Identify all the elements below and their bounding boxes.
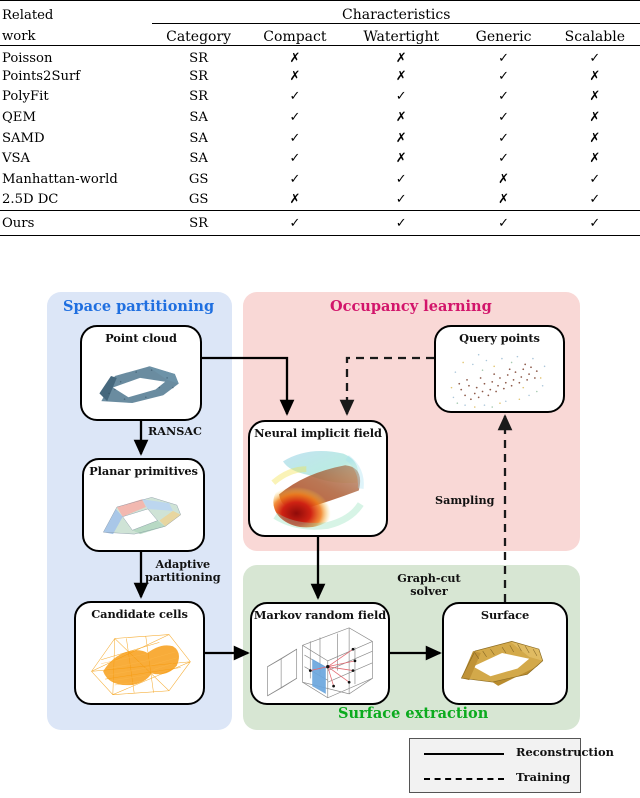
cell-watertight: ✗ bbox=[345, 107, 457, 128]
markov-random-field-thumbnail bbox=[252, 622, 388, 705]
table-row: QEM SA ✓ ✗ ✓ ✗ bbox=[0, 107, 640, 128]
table-corner-label-line2: work bbox=[0, 24, 152, 46]
table-header-row: work Category Compact Watertight Generic… bbox=[0, 24, 640, 46]
cell-work: QEM bbox=[0, 107, 152, 128]
edge-label-ransac: RANSAC bbox=[148, 425, 202, 438]
cell-watertight: ✗ bbox=[345, 66, 457, 87]
cell-scalable: ✗ bbox=[550, 66, 640, 87]
table-group-header: Characteristics bbox=[152, 1, 640, 24]
node-label-candidate-cells: Candidate cells bbox=[76, 607, 203, 621]
cell-generic: ✓ bbox=[457, 46, 549, 67]
table-row-ours: Ours SR ✓ ✓ ✓ ✓ bbox=[0, 210, 640, 235]
query-points-thumbnail bbox=[436, 345, 563, 413]
cell-scalable: ✗ bbox=[550, 128, 640, 149]
table-row: Points2Surf SR ✗ ✗ ✓ ✗ bbox=[0, 66, 640, 87]
node-neural-implicit-field[interactable]: Neural implicit field bbox=[248, 420, 388, 537]
cell-work: Ours bbox=[0, 210, 152, 235]
neural-implicit-field-thumbnail bbox=[250, 440, 386, 536]
cell-watertight: ✗ bbox=[345, 128, 457, 149]
cell-generic: ✓ bbox=[457, 107, 549, 128]
node-label-markov-random-field: Markov random field bbox=[252, 608, 388, 622]
cell-compact: ✓ bbox=[245, 107, 345, 128]
cell-generic: ✓ bbox=[457, 128, 549, 149]
panel-title-occupancy-learning: Occupancy learning bbox=[330, 298, 492, 315]
legend-row-reconstruction: Reconstruction bbox=[410, 741, 580, 767]
planar-primitives-thumbnail bbox=[84, 478, 203, 552]
node-point-cloud[interactable]: Point cloud bbox=[80, 325, 202, 421]
cell-category: SA bbox=[152, 148, 244, 169]
cell-scalable: ✗ bbox=[550, 87, 640, 108]
node-markov-random-field[interactable]: Markov random field bbox=[250, 602, 390, 705]
node-label-neural-implicit-field: Neural implicit field bbox=[250, 426, 386, 440]
col-header-scalable: Scalable bbox=[550, 24, 640, 46]
node-surface[interactable]: Surface bbox=[442, 602, 568, 705]
legend-box: Reconstruction Training bbox=[409, 738, 581, 793]
table-row: SAMD SA ✓ ✗ ✓ ✗ bbox=[0, 128, 640, 149]
col-header-compact: Compact bbox=[245, 24, 345, 46]
panel-title-surface-extraction: Surface extraction bbox=[338, 705, 488, 722]
edge-label-graphcut-line1: Graph-cut bbox=[390, 572, 468, 585]
edge-label-adaptive-line2: partitioning bbox=[145, 571, 221, 584]
edge-label-sampling: Sampling bbox=[435, 494, 494, 507]
legend-label-training: Training bbox=[516, 770, 570, 784]
pipeline-diagram: Space partitioning Occupancy learning Su… bbox=[0, 268, 640, 798]
cell-watertight: ✓ bbox=[345, 169, 457, 190]
related-work-table: Related Characteristics work Category Co… bbox=[0, 0, 640, 236]
legend-label-reconstruction: Reconstruction bbox=[516, 745, 614, 759]
cell-scalable: ✗ bbox=[550, 107, 640, 128]
node-label-surface: Surface bbox=[444, 608, 566, 622]
cell-scalable: ✓ bbox=[550, 169, 640, 190]
node-planar-primitives[interactable]: Planar primitives bbox=[82, 458, 205, 552]
cell-category: SA bbox=[152, 107, 244, 128]
table-row: VSA SA ✓ ✗ ✓ ✗ bbox=[0, 148, 640, 169]
table-corner-label-line1: Related bbox=[0, 1, 152, 24]
cell-compact: ✓ bbox=[245, 87, 345, 108]
node-label-planar-primitives: Planar primitives bbox=[84, 464, 203, 478]
table-row: 2.5D DC GS ✗ ✓ ✗ ✓ bbox=[0, 190, 640, 211]
cell-scalable: ✓ bbox=[550, 46, 640, 67]
solid-line-icon bbox=[424, 753, 504, 755]
cell-watertight: ✗ bbox=[345, 148, 457, 169]
cell-compact: ✓ bbox=[245, 169, 345, 190]
cell-compact: ✗ bbox=[245, 66, 345, 87]
cell-compact: ✓ bbox=[245, 148, 345, 169]
candidate-cells-thumbnail bbox=[76, 621, 203, 704]
comparison-table-container: Related Characteristics work Category Co… bbox=[0, 0, 640, 268]
cell-watertight: ✓ bbox=[345, 210, 457, 235]
panel-title-space-partitioning: Space partitioning bbox=[63, 298, 214, 315]
cell-category: SR bbox=[152, 87, 244, 108]
cell-category: SR bbox=[152, 46, 244, 67]
cell-compact: ✗ bbox=[245, 190, 345, 211]
cell-generic: ✗ bbox=[457, 190, 549, 211]
cell-scalable: ✓ bbox=[550, 190, 640, 211]
cell-work: PolyFit bbox=[0, 87, 152, 108]
legend-row-training: Training bbox=[410, 766, 580, 792]
edge-label-adaptive-partitioning: Adaptive partitioning bbox=[145, 558, 221, 583]
cell-generic: ✓ bbox=[457, 148, 549, 169]
cell-watertight: ✗ bbox=[345, 46, 457, 67]
node-query-points[interactable]: Query points bbox=[434, 325, 565, 413]
point-cloud-thumbnail bbox=[82, 345, 200, 420]
col-header-generic: Generic bbox=[457, 24, 549, 46]
cell-scalable: ✓ bbox=[550, 210, 640, 235]
table-row: Poisson SR ✗ ✗ ✓ ✓ bbox=[0, 46, 640, 67]
cell-work: Points2Surf bbox=[0, 66, 152, 87]
cell-category: SA bbox=[152, 128, 244, 149]
cell-compact: ✗ bbox=[245, 46, 345, 67]
node-label-point-cloud: Point cloud bbox=[82, 331, 200, 345]
cell-generic: ✗ bbox=[457, 169, 549, 190]
table-header-group-row: Related Characteristics bbox=[0, 1, 640, 24]
cell-category: SR bbox=[152, 66, 244, 87]
cell-compact: ✓ bbox=[245, 210, 345, 235]
cell-generic: ✓ bbox=[457, 66, 549, 87]
edge-label-adaptive-line1: Adaptive bbox=[145, 558, 221, 571]
surface-thumbnail bbox=[444, 622, 566, 704]
edge-label-graph-cut-solver: Graph-cut solver bbox=[390, 572, 468, 597]
cell-category: SR bbox=[152, 210, 244, 235]
col-header-category: Category bbox=[152, 24, 244, 46]
col-header-watertight: Watertight bbox=[345, 24, 457, 46]
cell-compact: ✓ bbox=[245, 128, 345, 149]
cell-work: SAMD bbox=[0, 128, 152, 149]
cell-watertight: ✓ bbox=[345, 87, 457, 108]
cell-work: 2.5D DC bbox=[0, 190, 152, 211]
cell-work: Poisson bbox=[0, 46, 152, 67]
edge-label-graphcut-line2: solver bbox=[390, 585, 468, 598]
table-row: PolyFit SR ✓ ✓ ✓ ✗ bbox=[0, 87, 640, 108]
cell-work: Manhattan-world bbox=[0, 169, 152, 190]
cell-generic: ✓ bbox=[457, 210, 549, 235]
cell-scalable: ✗ bbox=[550, 148, 640, 169]
node-label-query-points: Query points bbox=[436, 331, 563, 345]
cell-category: GS bbox=[152, 190, 244, 211]
node-candidate-cells[interactable]: Candidate cells bbox=[74, 601, 205, 705]
table-row: Manhattan-world GS ✓ ✓ ✗ ✓ bbox=[0, 169, 640, 190]
cell-category: GS bbox=[152, 169, 244, 190]
cell-watertight: ✓ bbox=[345, 190, 457, 211]
cell-generic: ✓ bbox=[457, 87, 549, 108]
cell-work: VSA bbox=[0, 148, 152, 169]
dashed-line-icon bbox=[424, 778, 504, 780]
